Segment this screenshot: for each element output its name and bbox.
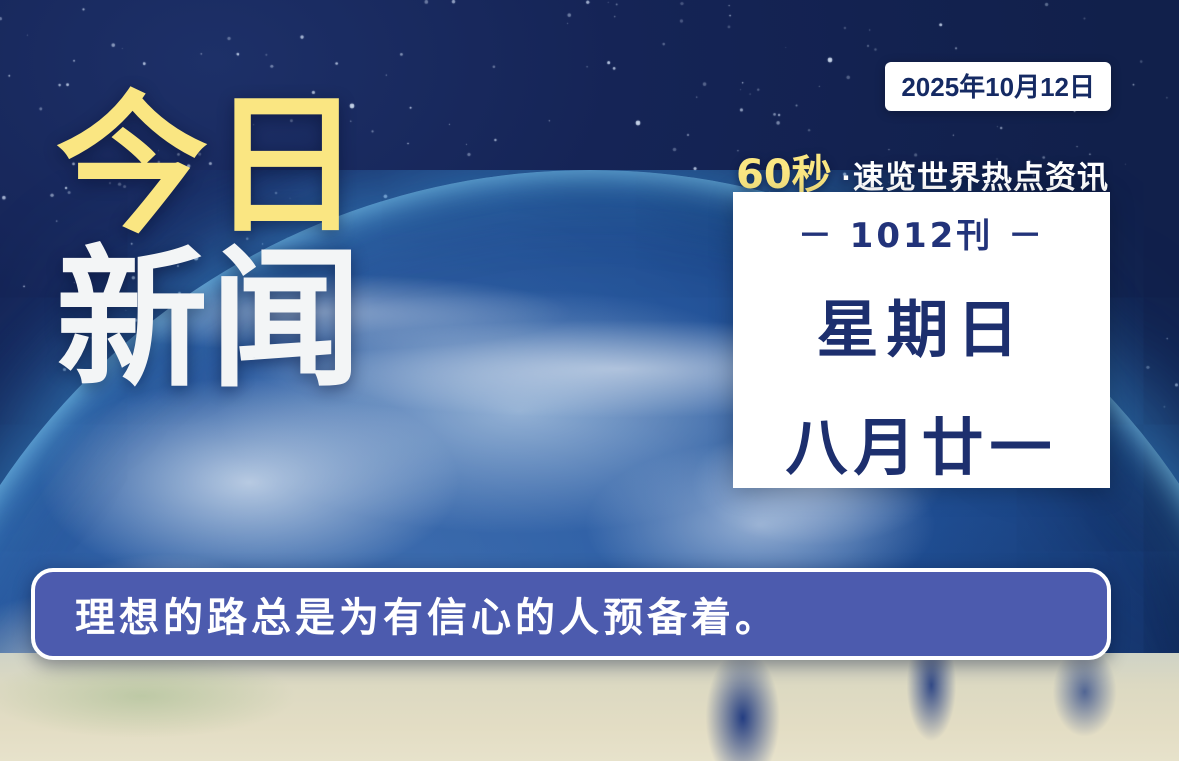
weekday-label: 星期日 — [816, 279, 1026, 369]
date-badge: 2025年10月12日 — [885, 62, 1111, 111]
earth-desert-band — [0, 653, 1179, 761]
news-poster: 今日 新闻 2025年10月12日 60秒 ·速览世界热点资讯 － 1012刊 … — [0, 0, 1179, 761]
tagline-text: ·速览世界热点资讯 — [842, 152, 1109, 197]
quote-banner: 理想的路总是为有信心的人预备着。 — [31, 568, 1111, 660]
headline-line-2: 新闻 — [56, 250, 364, 390]
quote-text: 理想的路总是为有信心的人预备着。 — [75, 585, 779, 643]
issue-number: － 1012刊 － — [798, 208, 1045, 257]
page-title: 今日 新闻 — [56, 96, 364, 390]
lunar-date-label: 八月廿一 — [785, 397, 1057, 487]
issue-card: － 1012刊 － 星期日 八月廿一 — [733, 192, 1110, 488]
headline-line-1: 今日 — [56, 96, 364, 236]
